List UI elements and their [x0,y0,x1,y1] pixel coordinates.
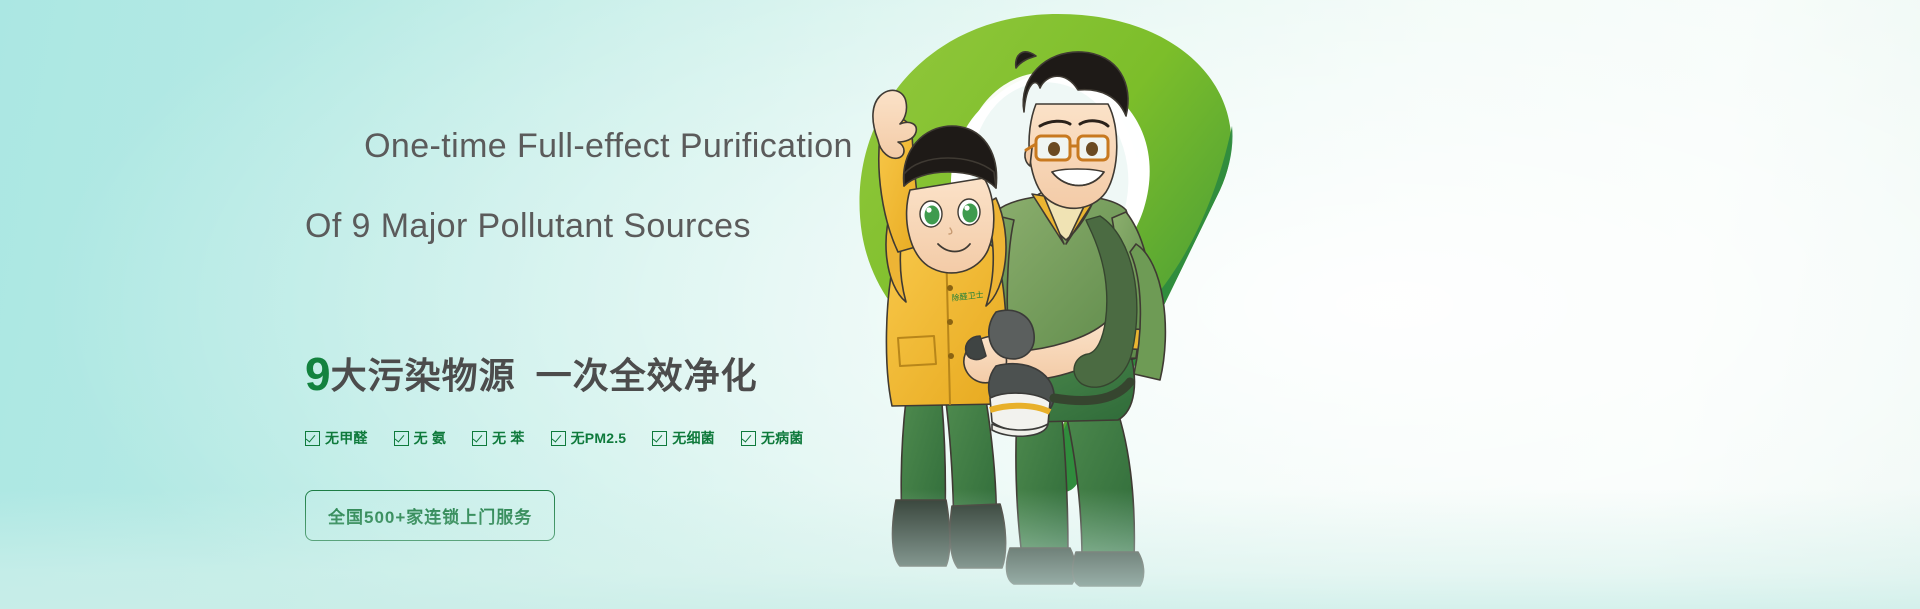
feature-label: 无 苯 [492,428,525,448]
check-box-icon [394,431,409,446]
feature-item-ammonia: 无 氨 [394,428,447,448]
english-headline-line1: One-time Full-effect Purification [364,127,853,165]
chinese-headline: 9大污染物源一次全效净化 [305,352,1065,398]
chinese-headline-part1: 大污染物源 [331,355,516,396]
check-box-icon [652,431,667,446]
feature-list: 无甲醛 无 氨 无 苯 无PM2.5 无细菌 无病菌 [305,428,1065,448]
feature-label: 无病菌 [761,428,804,448]
chinese-headline-part2: 一次全效净化 [536,355,758,396]
check-box-icon [741,431,756,446]
check-box-icon [472,431,487,446]
promo-banner: 除醛卫士 [0,0,1920,609]
feature-label: 无甲醛 [325,428,368,448]
copy-block: One-time Full-effect Purification Of 9 M… [305,86,1065,541]
english-headline: One-time Full-effect Purification Of 9 M… [305,86,1065,326]
check-box-icon [551,431,566,446]
feature-label: 无细菌 [672,428,715,448]
feature-label: 无 氨 [414,428,447,448]
feature-item-formaldehyde: 无甲醛 [305,428,368,448]
chinese-headline-number: 9 [305,348,331,400]
feature-item-bacteria: 无细菌 [652,428,715,448]
feature-item-pathogens: 无病菌 [741,428,804,448]
english-headline-line2: Of 9 Major Pollutant Sources [305,206,1065,246]
feature-label: 无PM2.5 [571,428,627,448]
nationwide-service-button[interactable]: 全国500+家连锁上门服务 [305,490,555,541]
check-box-icon [305,431,320,446]
feature-item-benzene: 无 苯 [472,428,525,448]
feature-item-pm25: 无PM2.5 [551,428,627,448]
